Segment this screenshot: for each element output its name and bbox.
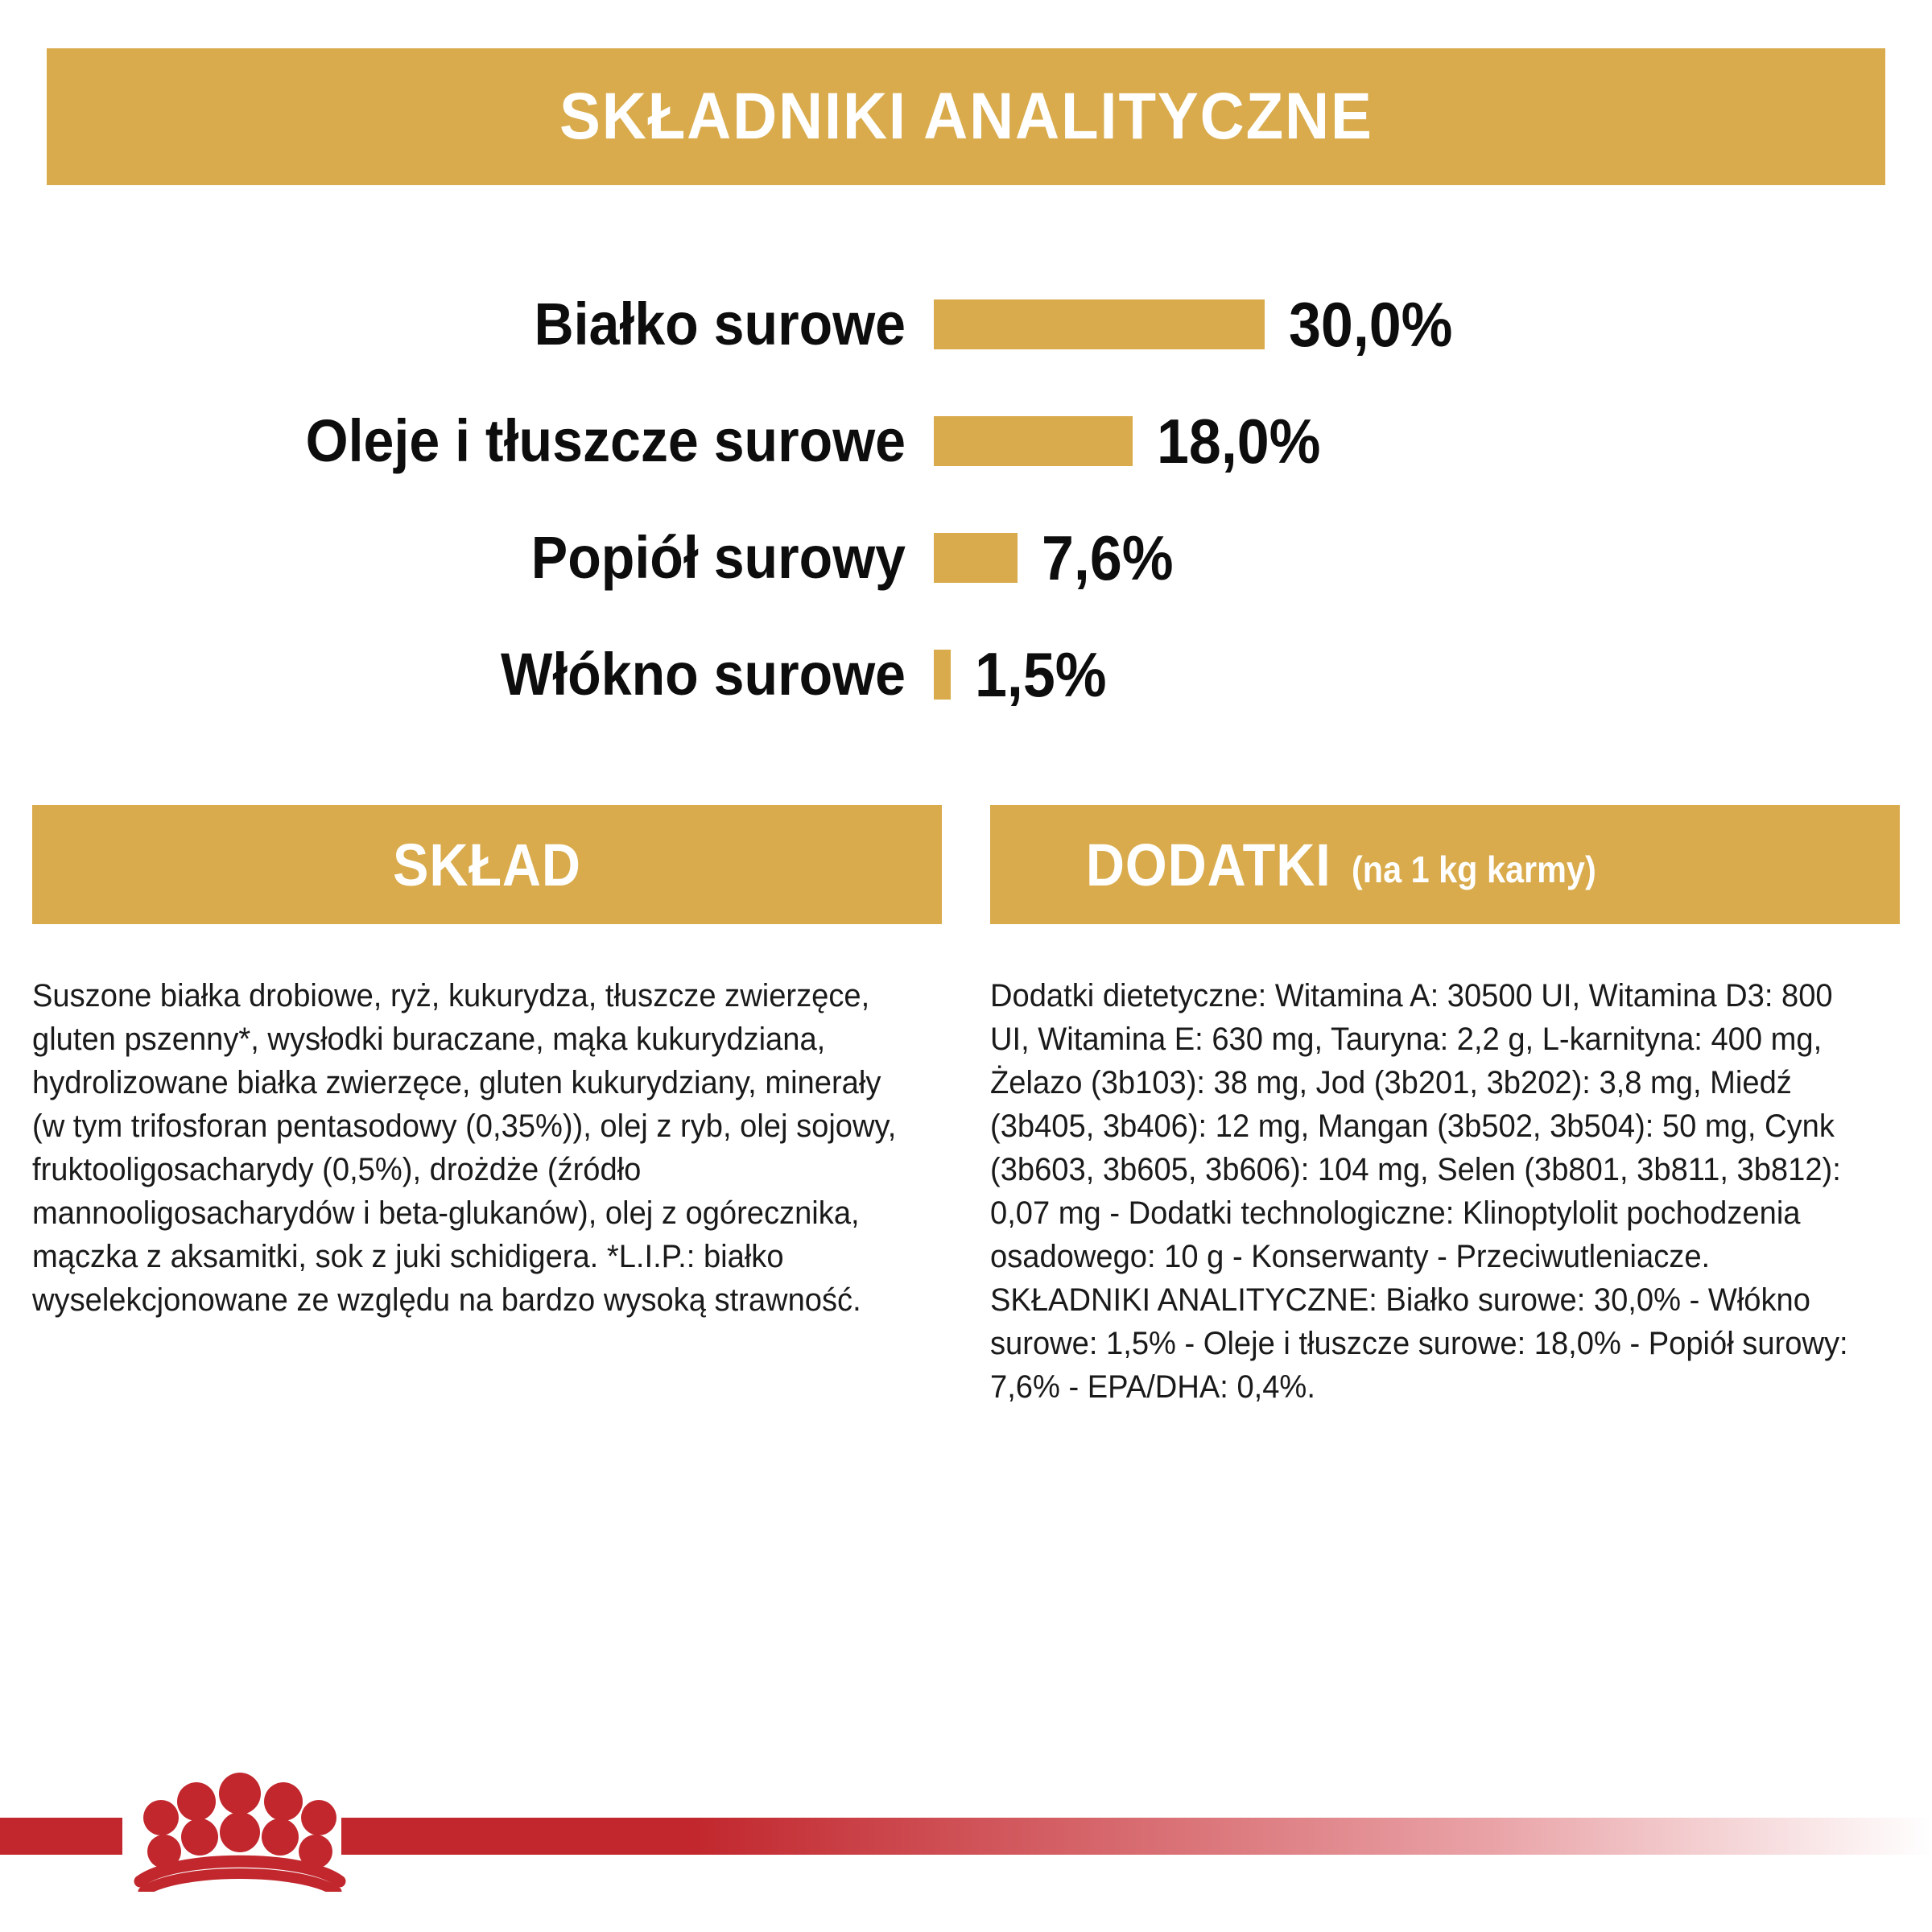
chart-row-label: Białko surowe — [75, 295, 934, 354]
chart-row: Włókno surowe 1,5% — [0, 616, 1932, 733]
footer-rule-left — [0, 1818, 122, 1855]
chart-row-value: 30,0% — [1289, 293, 1452, 356]
chart-row-label: Popiół surowy — [75, 528, 934, 588]
analytical-constituents-chart: Białko surowe 30,0% Oleje i tłuszcze sur… — [0, 266, 1932, 733]
chart-row-track: 30,0% — [934, 293, 1467, 356]
chart-bar — [934, 299, 1265, 349]
composition-column: SKŁAD Suszone białka drobiowe, ryż, kuku… — [32, 805, 942, 1322]
chart-row-track: 18,0% — [934, 410, 1335, 473]
chart-row-track: 1,5% — [934, 643, 1118, 706]
chart-row: Oleje i tłuszcze surowe 18,0% — [0, 382, 1932, 499]
additives-column: DODATKI (na 1 kg karmy) Dodatki dietetyc… — [990, 805, 1900, 1409]
composition-heading: SKŁAD — [393, 831, 581, 899]
footer-rule-right — [341, 1818, 1932, 1855]
composition-text: Suszone białka drobiowe, ryż, kukurydza,… — [32, 974, 910, 1322]
additives-heading-note: (na 1 kg karmy) — [1352, 848, 1596, 891]
chart-row-value: 7,6% — [1042, 526, 1174, 589]
chart-bar — [934, 650, 951, 700]
chart-row-label: Włókno surowe — [75, 645, 934, 704]
additives-text: Dodatki dietetyczne: Witamina A: 30500 U… — [990, 974, 1868, 1409]
additives-heading: DODATKI — [1086, 831, 1331, 899]
additives-header: DODATKI (na 1 kg karmy) — [990, 805, 1900, 924]
product-label-page: SKŁADNIKI ANALITYCZNE Białko surowe 30,0… — [0, 0, 1932, 1932]
chart-row: Popiół surowy 7,6% — [0, 499, 1932, 616]
footer — [0, 1785, 1932, 1890]
composition-header: SKŁAD — [32, 805, 942, 924]
chart-row: Białko surowe 30,0% — [0, 266, 1932, 382]
analytical-constituents-banner: SKŁADNIKI ANALITYCZNE — [47, 48, 1885, 185]
royal-canin-crown-icon — [127, 1771, 353, 1892]
chart-row-label: Oleje i tłuszcze surowe — [75, 411, 934, 471]
chart-bar — [934, 416, 1133, 466]
chart-bar — [934, 533, 1018, 583]
chart-row-value: 1,5% — [975, 643, 1107, 706]
chart-row-track: 7,6% — [934, 526, 1185, 589]
page-title: SKŁADNIKI ANALITYCZNE — [559, 79, 1373, 155]
chart-row-value: 18,0% — [1157, 410, 1320, 473]
